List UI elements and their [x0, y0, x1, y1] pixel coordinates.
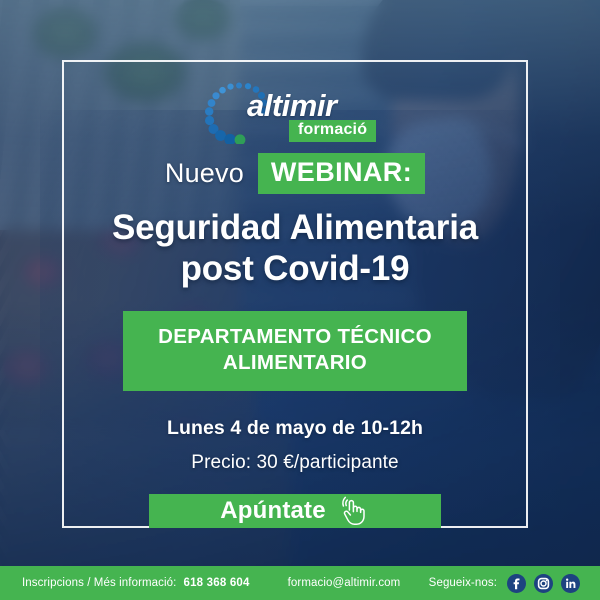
department-line-1: DEPARTAMENTO TÉCNICO	[133, 324, 457, 350]
event-price: Precio: 30 €/participante	[191, 452, 398, 474]
kicker-row: Nuevo WEBINAR:	[165, 153, 425, 194]
inscriptions-label: Inscripcions / Més informació:	[22, 577, 176, 589]
facebook-icon[interactable]	[507, 574, 526, 593]
phone-number[interactable]: 618 368 604	[183, 577, 249, 589]
footer-bar: Inscripcions / Més informació: 618 368 6…	[0, 566, 600, 600]
logo-wordmark: altimir	[247, 90, 337, 121]
promo-poster: altimir formació Nuevo WEBINAR: Segurida…	[0, 0, 600, 600]
logo-subtitle: formació	[289, 120, 376, 142]
signup-button-label: Apúntate	[220, 497, 326, 525]
page-title: Seguridad Alimentaria post Covid-19	[80, 208, 510, 289]
follow-label: Segueix-nos:	[429, 577, 497, 589]
click-hand-icon	[336, 494, 370, 528]
signup-button[interactable]: Apúntate	[149, 494, 441, 528]
title-line-1: Seguridad Alimentaria	[80, 208, 510, 249]
instagram-icon[interactable]	[534, 574, 553, 593]
inscriptions-block: Inscripcions / Més informació: 618 368 6…	[22, 577, 250, 589]
title-line-2: post Covid-19	[80, 249, 510, 290]
event-date: Lunes 4 de mayo de 10-12h	[167, 417, 423, 440]
poster-content: altimir formació Nuevo WEBINAR: Segurida…	[62, 60, 528, 528]
linkedin-icon[interactable]	[561, 574, 580, 593]
altimir-logo[interactable]: altimir formació	[205, 82, 385, 127]
social-block: Segueix-nos:	[429, 574, 580, 593]
webinar-badge: WEBINAR:	[258, 153, 425, 194]
department-banner: DEPARTAMENTO TÉCNICO ALIMENTARIO	[123, 311, 467, 391]
department-line-2: ALIMENTARIO	[133, 350, 457, 376]
email-address[interactable]: formacio@altimir.com	[288, 577, 401, 589]
kicker-text: Nuevo	[165, 158, 244, 189]
